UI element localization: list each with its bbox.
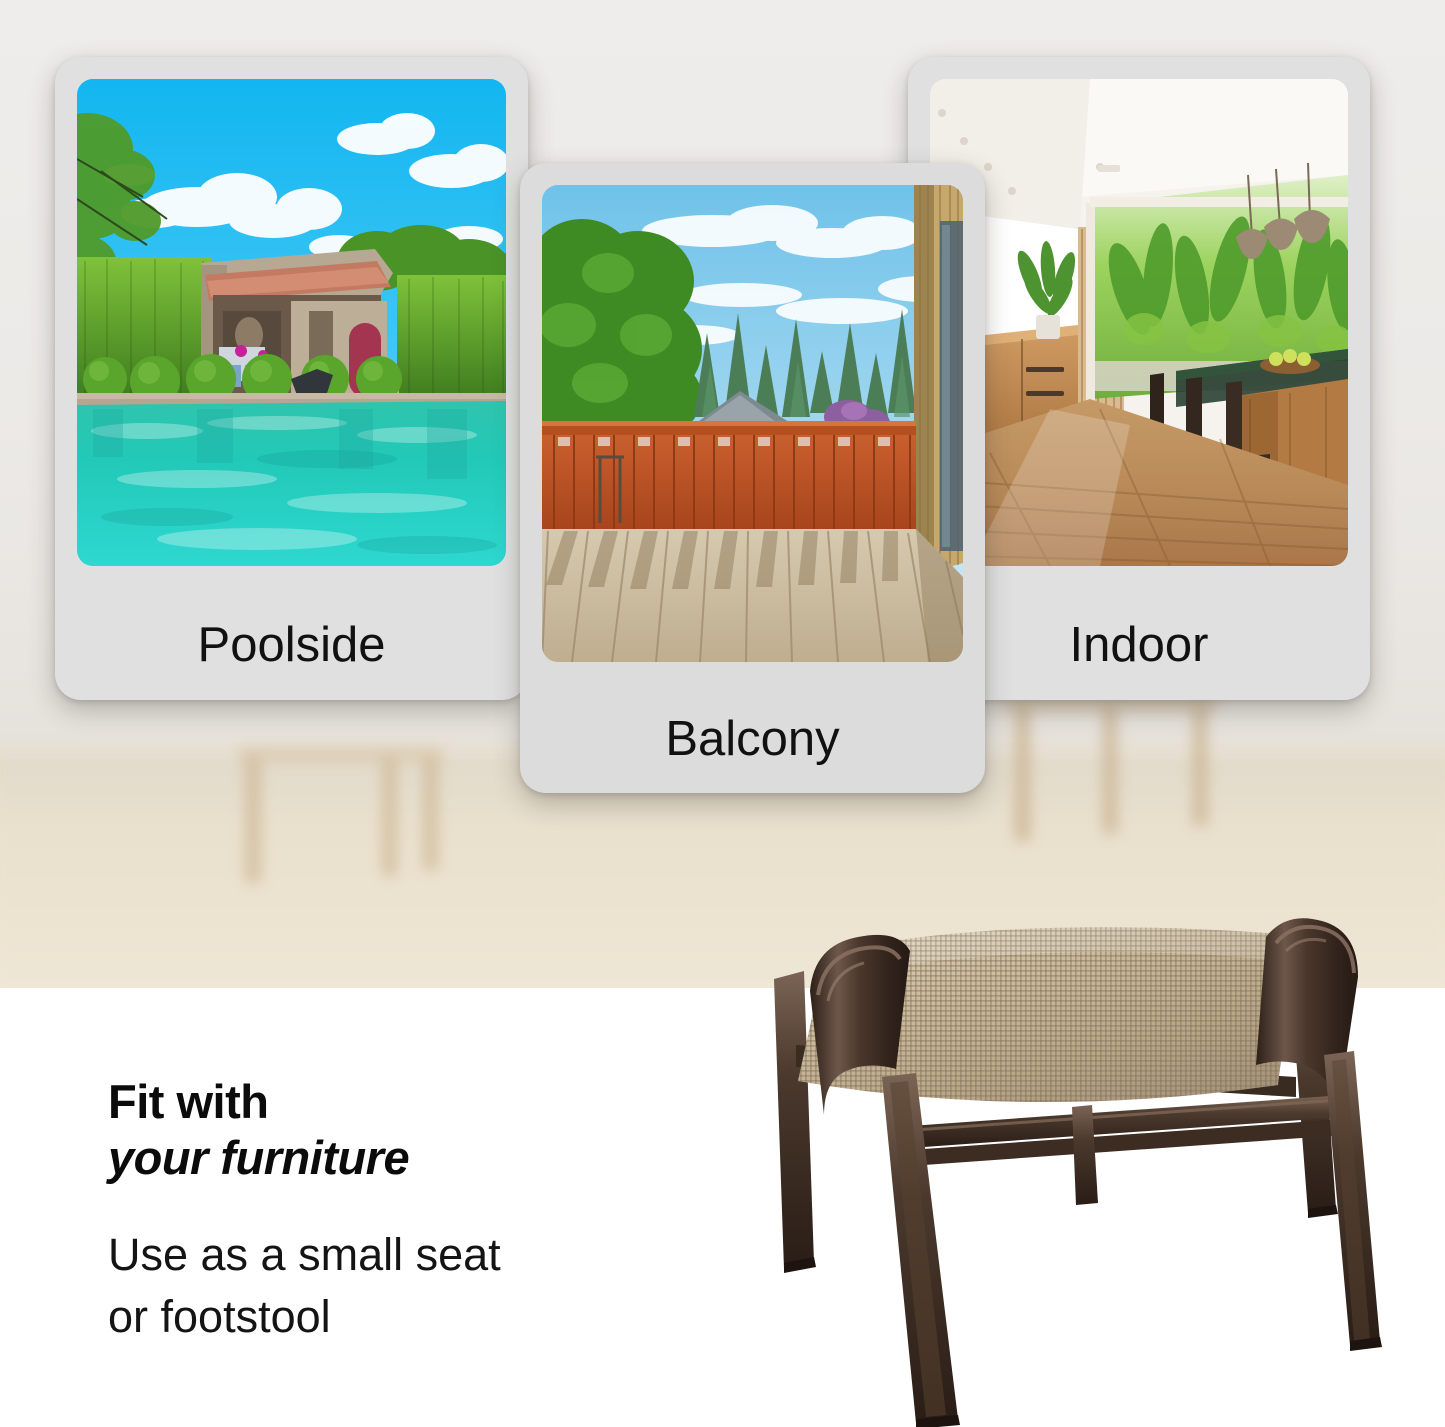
copy-block: Fit with your furniture Use as a small s… <box>108 1074 728 1348</box>
headline-line-2: your furniture <box>108 1130 728 1186</box>
card-label-balcony: Balcony <box>520 711 985 767</box>
product-ottoman <box>700 895 1400 1427</box>
balcony-illustration <box>542 185 963 662</box>
scene-root: Poolside <box>0 0 1445 1427</box>
card-label-poolside: Poolside <box>55 617 528 673</box>
scene-card-poolside[interactable]: Poolside <box>55 57 528 700</box>
indoor-photo <box>930 79 1348 566</box>
subtext-line-2: or footstool <box>108 1286 728 1348</box>
indoor-illustration <box>930 79 1348 566</box>
poolside-illustration <box>77 79 506 566</box>
poolside-photo <box>77 79 506 566</box>
headline-line-1: Fit with <box>108 1074 728 1130</box>
subtext-line-1: Use as a small seat <box>108 1224 728 1286</box>
subtext-block: Use as a small seat or footstool <box>108 1224 728 1348</box>
scene-card-balcony[interactable]: Balcony <box>520 163 985 793</box>
blurred-table-right <box>995 690 1230 890</box>
blurred-wood-table <box>228 740 458 920</box>
balcony-photo <box>542 185 963 662</box>
